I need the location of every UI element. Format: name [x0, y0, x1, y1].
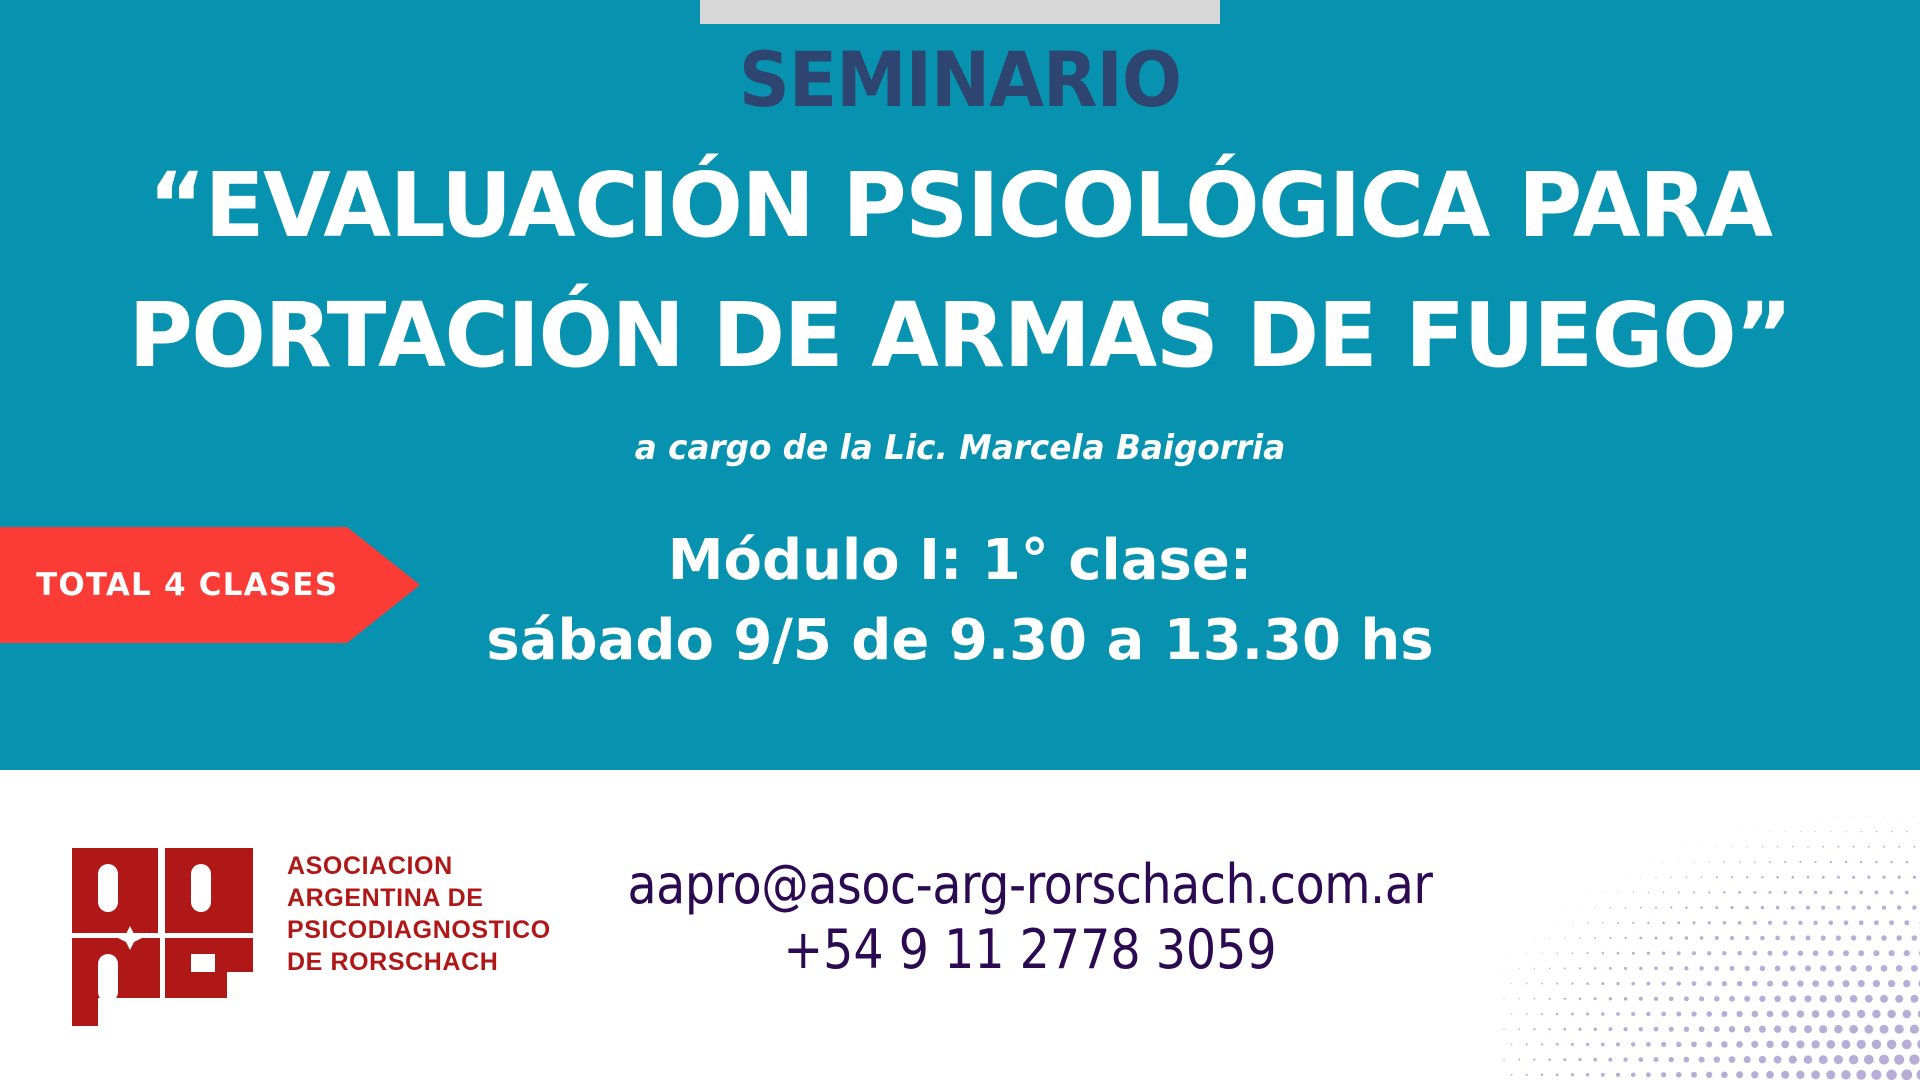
seminar-title-line-1: “EVALUACIÓN PSICOLÓGICA PARA: [14, 140, 1905, 270]
aapr-logo-wordmark: ASOCIACION ARGENTINA DE PSICODIAGNOSTICO…: [287, 850, 551, 978]
seminar-kicker-heading: SEMINARIO: [67, 42, 1853, 118]
footer-panel: ASOCIACION ARGENTINA DE PSICODIAGNOSTICO…: [0, 770, 1920, 1080]
logo-name-line-4: DE RORSCHACH: [287, 946, 551, 978]
logo-name-line-1: ASOCIACION: [287, 850, 551, 882]
contact-block: aapro@asoc-arg-rorschach.com.ar +54 9 11…: [560, 853, 1500, 983]
aapr-logo-mark: [70, 842, 255, 1027]
seminar-title: “EVALUACIÓN PSICOLÓGICA PARA PORTACIÓN D…: [14, 140, 1905, 400]
top-grey-placeholder-bar: [700, 0, 1220, 24]
logo-name-line-3: PSICODIAGNOSTICO: [287, 914, 551, 946]
schedule-module-line: Módulo I: 1° clase:: [310, 522, 1610, 600]
schedule-block: Módulo I: 1° clase: sábado 9/5 de 9.30 a…: [310, 522, 1610, 682]
contact-email[interactable]: aapro@asoc-arg-rorschach.com.ar: [616, 853, 1443, 917]
contact-phone[interactable]: +54 9 11 2778 3059: [616, 917, 1443, 983]
seminar-title-line-2: PORTACIÓN DE ARMAS DE FUEGO”: [14, 270, 1905, 400]
seminar-presenter-credit: a cargo de la Lic. Marcela Baigorria: [38, 428, 1881, 468]
logo-name-line-2: ARGENTINA DE: [287, 882, 551, 914]
total-classes-label: TOTAL 4 CLASES: [36, 567, 338, 603]
halftone-dots-svg: [1500, 780, 1920, 1080]
schedule-date-line: sábado 9/5 de 9.30 a 13.30 hs: [310, 600, 1610, 682]
aapr-monogram-icon: [70, 842, 255, 1027]
halftone-dot-decoration: [1500, 780, 1920, 1080]
seminar-hero-panel: SEMINARIO “EVALUACIÓN PSICOLÓGICA PARA P…: [0, 0, 1920, 770]
